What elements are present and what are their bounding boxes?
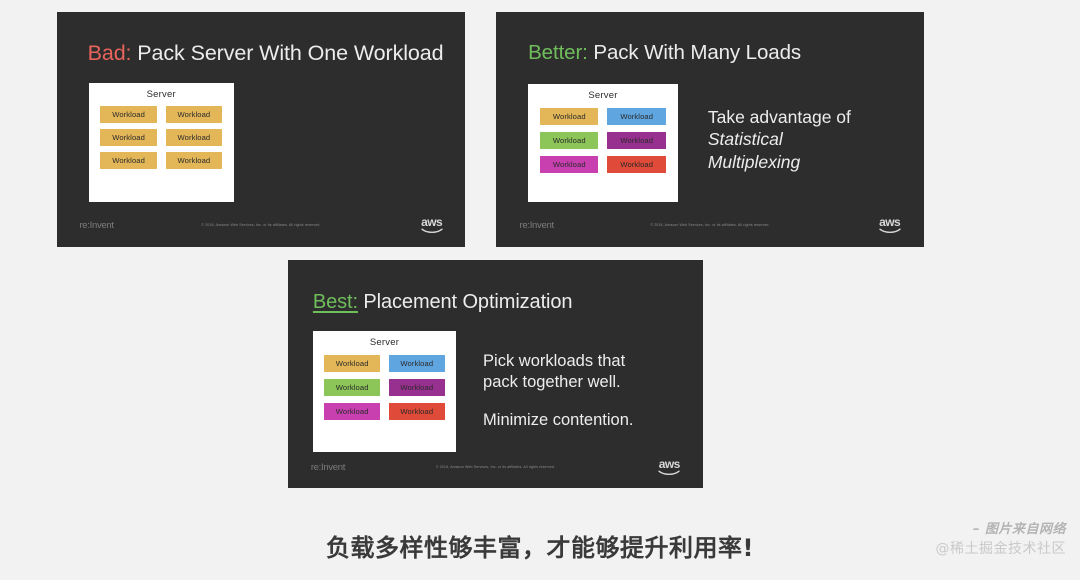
workload-block: Workload: [166, 129, 222, 146]
reinvent-logo: re:Invent: [520, 220, 554, 231]
slide-best-workload-grid: Workload Workload Workload Workload Work…: [324, 355, 444, 420]
slide-best[interactable]: Best: Placement Optimization Server Work…: [288, 260, 703, 488]
workload-block: Workload: [389, 379, 445, 396]
workload-block: Workload: [324, 379, 380, 396]
aws-logo: aws: [419, 217, 445, 235]
slide-better-body-line-3: Multiplexing: [708, 151, 851, 173]
slide-better[interactable]: Better: Pack With Many Loads Server Work…: [496, 12, 924, 247]
server-label: Server: [147, 89, 176, 100]
workload-block: Workload: [100, 106, 156, 123]
slide-bad-server-box: Server Workload Workload Workload Worklo…: [89, 83, 234, 203]
aws-logo-text: aws: [656, 459, 682, 470]
slide-collage-canvas: Bad: Pack Server With One Workload Serve…: [0, 0, 1080, 580]
watermark-handle: @稀土掘金技术社区: [936, 538, 1067, 558]
slide-bad-title-rest: Pack Server With One Workload: [131, 41, 443, 65]
aws-logo: aws: [877, 217, 903, 235]
aws-logo-text: aws: [877, 217, 903, 228]
workload-block: Workload: [389, 355, 445, 372]
slide-better-title-keyword: Better:: [528, 41, 588, 64]
slide-better-workload-grid: Workload Workload Workload Workload Work…: [540, 108, 666, 173]
watermark: – 图片来自网络 @稀土掘金技术社区: [936, 518, 1067, 558]
slide-bad-title-keyword: Bad:: [88, 41, 132, 65]
workload-block: Workload: [540, 156, 598, 173]
workload-block: Workload: [324, 355, 380, 372]
slide-bad-title: Bad: Pack Server With One Workload: [88, 41, 444, 66]
workload-block: Workload: [607, 132, 665, 149]
workload-block: Workload: [607, 156, 665, 173]
workload-block: Workload: [540, 132, 598, 149]
aws-logo: aws: [656, 459, 682, 477]
workload-block: Workload: [540, 108, 598, 125]
server-label: Server: [588, 90, 617, 101]
slide-better-title: Better: Pack With Many Loads: [528, 41, 801, 65]
slide-best-server-box: Server Workload Workload Workload Worklo…: [313, 331, 456, 452]
workload-block: Workload: [389, 403, 445, 420]
slide-best-body-line-3: Minimize contention.: [483, 410, 633, 431]
slide-better-footer: re:Invent © 2018, Amazon Web Services, I…: [496, 218, 924, 236]
slide-best-body: Pick workloads that pack together well. …: [483, 351, 633, 431]
slide-best-title-keyword: Best:: [313, 291, 358, 313]
workload-block: Workload: [607, 108, 665, 125]
workload-block: Workload: [166, 106, 222, 123]
caption-text: 负载多样性够丰富，才能够提升利用率!: [0, 528, 1080, 563]
body-paragraph-gap: [483, 393, 633, 410]
footer-copyright: © 2018, Amazon Web Services, Inc. or its…: [201, 223, 320, 227]
workload-block: Workload: [166, 152, 222, 169]
aws-smile-icon: [421, 228, 443, 234]
footer-copyright: © 2018, Amazon Web Services, Inc. or its…: [650, 223, 769, 227]
slide-better-server-box: Server Workload Workload Workload Worklo…: [528, 84, 678, 203]
slide-better-title-rest: Pack With Many Loads: [588, 41, 801, 64]
reinvent-logo: re:Invent: [311, 462, 345, 473]
slide-bad[interactable]: Bad: Pack Server With One Workload Serve…: [57, 12, 465, 247]
workload-block: Workload: [100, 129, 156, 146]
reinvent-logo: re:Invent: [79, 220, 113, 231]
workload-block: Workload: [324, 403, 380, 420]
slide-better-body-line-2: Statistical: [708, 128, 851, 150]
slide-best-title-rest: Placement Optimization: [358, 291, 572, 313]
slide-better-body-line-1: Take advantage of: [708, 106, 851, 128]
slide-best-title: Best: Placement Optimization: [313, 291, 573, 314]
slide-better-body: Take advantage of Statistical Multiplexi…: [708, 106, 851, 173]
slide-best-footer: re:Invent © 2018, Amazon Web Services, I…: [288, 460, 703, 478]
slide-best-body-line-1: Pick workloads that: [483, 351, 633, 372]
aws-smile-icon: [879, 228, 901, 234]
workload-block: Workload: [100, 152, 156, 169]
server-label: Server: [370, 337, 399, 348]
slide-bad-workload-grid: Workload Workload Workload Workload Work…: [100, 106, 222, 169]
watermark-source: – 图片来自网络: [936, 518, 1067, 537]
slide-best-body-line-2: pack together well.: [483, 372, 633, 393]
aws-logo-text: aws: [419, 217, 445, 228]
slide-bad-footer: re:Invent © 2018, Amazon Web Services, I…: [57, 218, 465, 236]
footer-copyright: © 2018, Amazon Web Services, Inc. or its…: [436, 465, 555, 469]
